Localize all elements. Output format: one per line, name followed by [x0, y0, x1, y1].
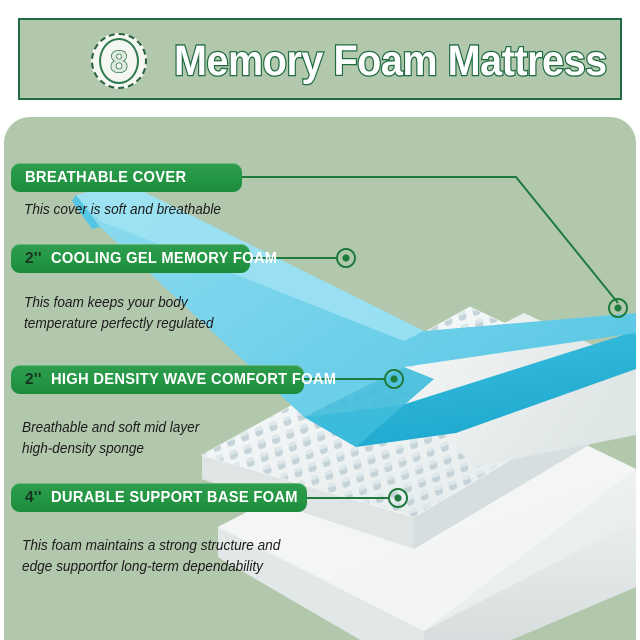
callout-pill-base-foam[interactable]: 4'' DURABLE SUPPORT BASE FOAM: [11, 483, 307, 512]
callout-measure-cooling-gel: 2'': [25, 250, 42, 268]
header-band: 8 Memory Foam Mattress: [18, 18, 622, 100]
callout-measure-base-foam: 4'': [25, 489, 42, 507]
callout-pill-breathable-cover[interactable]: BREATHABLE COVER: [11, 163, 242, 192]
callout-label-breathable-cover: BREATHABLE COVER: [25, 169, 186, 187]
callout-label-base-foam: DURABLE SUPPORT BASE FOAM: [51, 489, 298, 507]
infographic-page: 8 Memory Foam Mattress: [0, 0, 640, 640]
callout-label-cooling-gel: COOLING GEL MEMORY FOAM: [51, 250, 277, 268]
callout-description-base-foam: This foam maintains a strong structure a…: [22, 536, 280, 577]
content-panel: BREATHABLE COVER This cover is soft and …: [4, 117, 636, 640]
callout-description-cooling-gel: This foam keeps your body temperature pe…: [24, 293, 213, 334]
badge-number: 8: [110, 46, 127, 77]
page-title: Memory Foam Mattress: [174, 32, 607, 90]
callout-pill-cooling-gel[interactable]: 2'' COOLING GEL MEMORY FOAM: [11, 244, 250, 273]
callout-measure-wave-comfort-foam: 2'': [25, 371, 42, 389]
callout-label-wave-comfort-foam: HIGH DENSITY WAVE COMFORT FOAM: [51, 371, 336, 389]
callout-pill-wave-comfort-foam[interactable]: 2'' HIGH DENSITY WAVE COMFORT FOAM: [11, 365, 304, 394]
step-number-badge: 8: [91, 33, 147, 89]
callout-description-breathable-cover: This cover is soft and breathable: [24, 200, 221, 221]
callout-description-wave-comfort-foam: Breathable and soft mid layer high-densi…: [22, 418, 199, 459]
badge-inner-ring: 8: [99, 38, 139, 84]
